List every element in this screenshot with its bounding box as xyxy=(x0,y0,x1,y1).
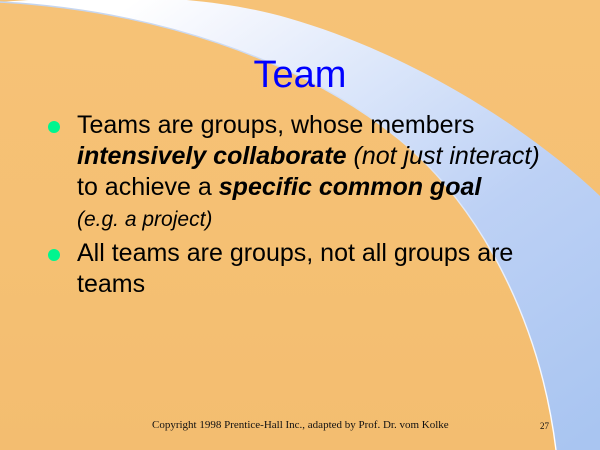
slide-footer: Copyright 1998 Prentice-Hall Inc., adapt… xyxy=(0,418,600,436)
emphasis-bold-italic: intensively collaborate xyxy=(77,142,347,170)
emphasis-small-italic: (e.g. a project) xyxy=(77,208,212,231)
bullet-list: Teams are groups, whose members intensiv… xyxy=(47,110,567,300)
page-title: Team xyxy=(0,52,600,98)
copyright-text: Copyright 1998 Prentice-Hall Inc., adapt… xyxy=(152,418,449,432)
text-line: to achieve a specific common goal xyxy=(77,172,567,203)
disc-bullet-icon xyxy=(48,121,60,133)
list-item-text: All teams are groups, not all groups are… xyxy=(77,238,567,300)
text-line: (e.g. a project) xyxy=(77,203,567,235)
list-item: Teams are groups, whose members intensiv… xyxy=(47,110,567,235)
page-number: 27 xyxy=(540,420,549,432)
disc-bullet-icon xyxy=(48,249,60,261)
list-item-text: Teams are groups, whose members intensiv… xyxy=(77,110,567,235)
list-item: All teams are groups, not all groups are… xyxy=(47,238,567,300)
text-line: Teams are groups, whose members xyxy=(77,110,567,141)
text-line: All teams are groups, not all groups are xyxy=(77,238,567,269)
text-line: teams xyxy=(77,269,567,300)
slide: Team Teams are groups, whose members int… xyxy=(0,0,600,450)
text-line: intensively collaborate (not just intera… xyxy=(77,141,567,172)
emphasis-italic: (not just interact) xyxy=(354,142,540,170)
emphasis-bold-italic: specific common goal xyxy=(219,173,482,201)
